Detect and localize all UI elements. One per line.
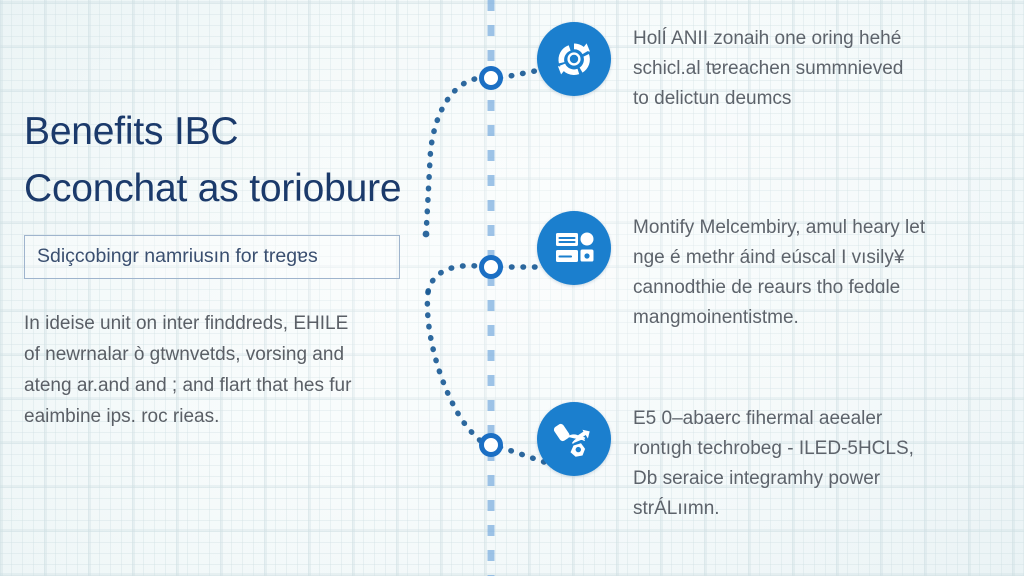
benefit-items-list: HolÍ ANII zonaih one oring hehé schicl.a… <box>537 0 1024 576</box>
body-paragraph: In ideise unit on inter finddreds, EHILE… <box>24 309 428 432</box>
list-item-text: HolÍ ANII zonaih one oring hehé schicl.a… <box>633 22 973 114</box>
timeline-node-2 <box>482 258 501 277</box>
timeline-node-1 <box>482 69 501 88</box>
branch-curve-3 <box>427 292 486 445</box>
stub-line-1 <box>500 70 540 78</box>
icon-badge-1 <box>537 22 611 96</box>
branch-curve-2 <box>428 266 486 292</box>
page-title: Benefits IBC Cconchat as toriobure <box>24 104 436 217</box>
icon-badge-2 <box>537 211 611 285</box>
list-item: Montify Melcembiry, amul heary let nge é… <box>537 211 1024 333</box>
subtitle-text: Sdiçcobinɡr namriusın for tregɐs <box>37 245 387 268</box>
timeline-node-3 <box>482 436 501 455</box>
slide-canvas: Benefits IBC Cconchat as toriobure Sdiçc… <box>0 0 1024 576</box>
left-panel: Benefits IBC Cconchat as toriobure Sdiçc… <box>24 104 436 433</box>
list-item-text: E5 0–abaerc fihermal aeealer rontıgh tec… <box>633 402 973 524</box>
list-item: HolÍ ANII zonaih one oring hehé schicl.a… <box>537 22 1024 114</box>
list-item: E5 0–abaerc fihermal aeealer rontıgh tec… <box>537 402 1024 524</box>
refresh-cycle-icon <box>552 37 596 81</box>
dashboard-layout-icon <box>553 227 595 269</box>
growth-arrow-icon <box>552 417 596 461</box>
icon-badge-3 <box>537 402 611 476</box>
list-item-text: Montify Melcembiry, amul heary let nge é… <box>633 211 973 333</box>
subtitle-box: Sdiçcobinɡr namriusın for tregɐs <box>24 235 400 279</box>
